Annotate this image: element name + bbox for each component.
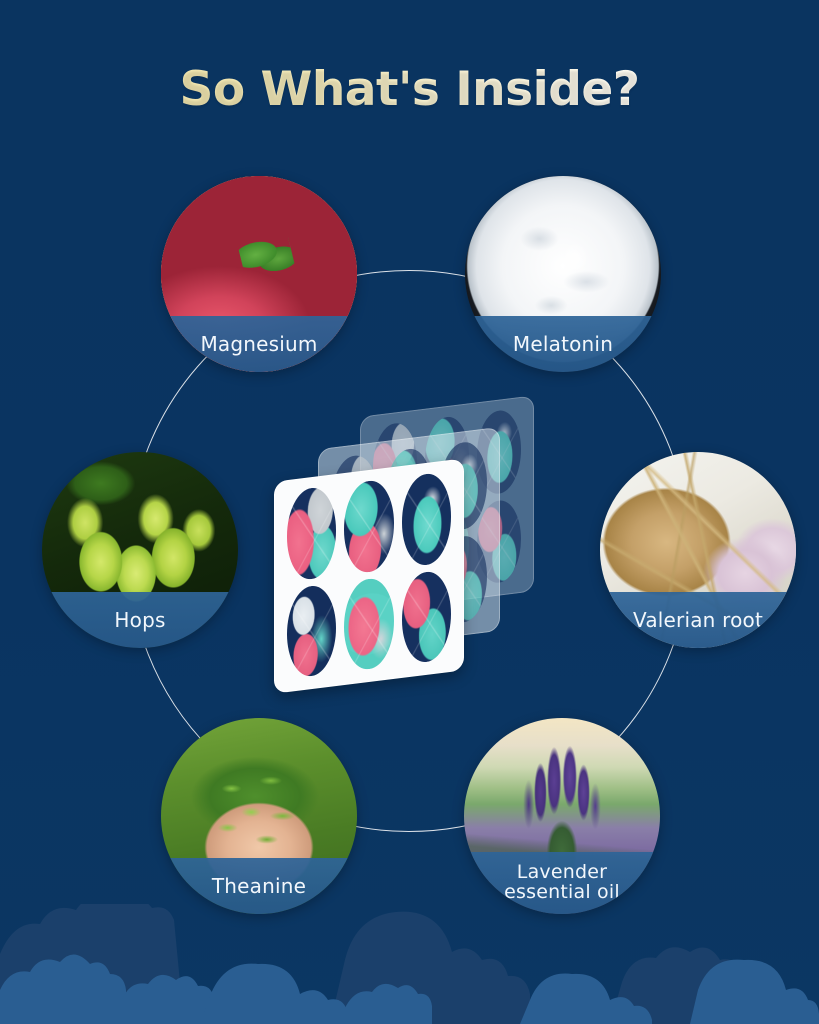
- ingredient-label-valerian-root: Valerian root: [600, 592, 796, 648]
- patch: [287, 583, 336, 680]
- cloud-silhouettes: [0, 904, 819, 1024]
- patch: [287, 485, 336, 582]
- poster-canvas: So What's Inside? Magnesium Melatonin Va…: [0, 0, 819, 1024]
- patch: [402, 568, 451, 665]
- ingredient-magnesium[interactable]: Magnesium: [161, 176, 357, 372]
- page-title: So What's Inside?: [0, 62, 819, 117]
- ingredient-theanine[interactable]: Theanine: [161, 718, 357, 914]
- product-patch-sheets[interactable]: [268, 400, 558, 700]
- ingredient-label-melatonin: Melatonin: [465, 316, 661, 372]
- patch: [344, 575, 393, 672]
- ingredient-label-magnesium: Magnesium: [161, 316, 357, 372]
- ingredient-melatonin[interactable]: Melatonin: [465, 176, 661, 372]
- patch: [344, 478, 393, 575]
- patch-sheet-front: [274, 458, 464, 693]
- ingredient-label-hops: Hops: [42, 592, 238, 648]
- ingredient-lavender-essential-oil[interactable]: Lavender essential oil: [464, 718, 660, 914]
- ingredient-valerian-root[interactable]: Valerian root: [600, 452, 796, 648]
- ingredient-hops[interactable]: Hops: [42, 452, 238, 648]
- patch: [402, 471, 451, 568]
